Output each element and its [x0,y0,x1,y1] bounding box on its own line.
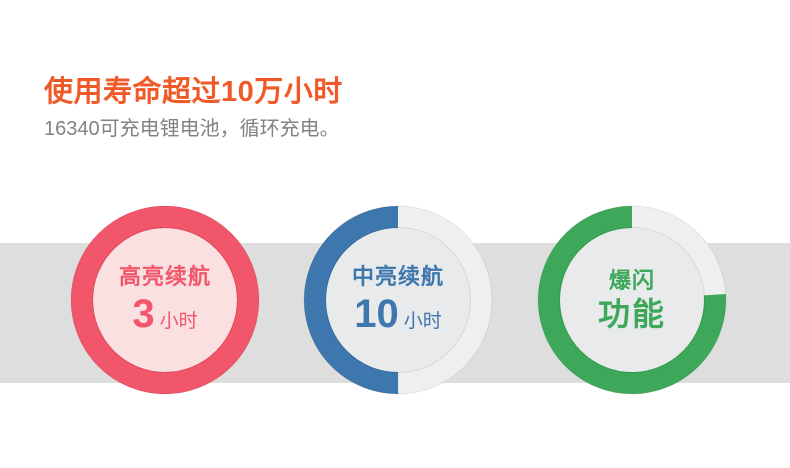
ring-label-high-brightness: 高亮续航 3 小时 [69,204,261,396]
ring-title: 爆闪 [609,270,655,292]
page-title: 使用寿命超过10万小时 [44,76,564,109]
ring-value: 10 [354,294,399,334]
page-subtitle: 16340可充电锂电池，循环充电。 [44,117,564,142]
ring-medium-brightness-runtime: 中亮续航 10 小时 [302,204,494,396]
ring-value: 3 [132,294,154,334]
ring-title: 高亮续航 [119,266,211,288]
ring-unit: 小时 [404,312,442,331]
ring-title: 中亮续航 [352,266,444,288]
ring-row: 高亮续航 3 小时 中亮续航 10 小时 [0,204,790,400]
heading-block: 使用寿命超过10万小时 16340可充电锂电池，循环充电。 [44,76,564,142]
ring-value-row: 10 小时 [354,294,442,334]
ring-label-medium-brightness: 中亮续航 10 小时 [302,204,494,396]
ring-strobe-function: 爆闪 功能 [536,204,728,396]
ring-subtitle: 功能 [598,298,666,330]
ring-unit: 小时 [160,312,198,331]
ring-value-row: 3 小时 [132,294,197,334]
ring-high-brightness-runtime: 高亮续航 3 小时 [69,204,261,396]
page-root: 使用寿命超过10万小时 16340可充电锂电池，循环充电。 高亮续航 3 小时 [0,0,790,468]
ring-label-strobe: 爆闪 功能 [536,204,728,396]
